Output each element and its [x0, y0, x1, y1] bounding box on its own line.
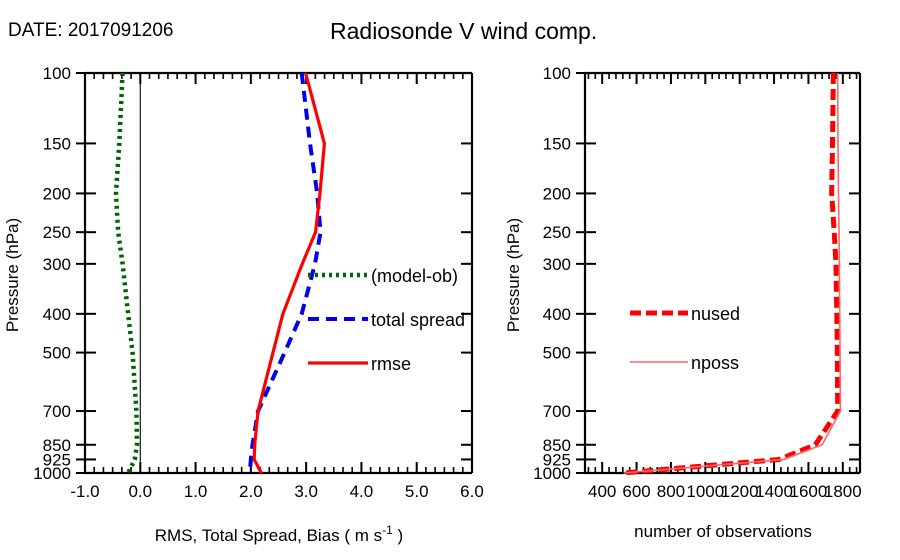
y-tick-label: 400 [543, 305, 571, 324]
x-tick-label: 0.0 [128, 482, 152, 501]
y-tick-label: 1000 [33, 464, 71, 483]
legend-label-nposs: nposs [691, 353, 739, 373]
y-tick-label: 500 [543, 344, 571, 363]
x-tick-label: 4.0 [350, 482, 374, 501]
chart-page: DATE: 2017091206 Radiosonde V wind comp.… [0, 0, 900, 560]
left-data-series [116, 73, 324, 473]
y-tick-label: 400 [43, 305, 71, 324]
right-legend: nusednposs [630, 304, 740, 373]
left-panel: -1.00.01.02.03.04.05.06.0 10015020025030… [3, 64, 484, 545]
left-x-axis-title-main: RMS, Total Spread, Bias ( m s [155, 526, 382, 545]
x-tick-label: 2.0 [239, 482, 263, 501]
y-tick-label: 150 [43, 134, 71, 153]
plot-canvas: -1.00.01.02.03.04.05.06.0 10015020025030… [0, 0, 900, 560]
x-tick-label: 6.0 [460, 482, 484, 501]
legend-label-total-spread: total spread [371, 310, 465, 330]
left-y-axis-title: Pressure (hPa) [3, 218, 22, 332]
x-tick-label: 400 [588, 482, 616, 501]
y-tick-label: 500 [43, 344, 71, 363]
x-tick-label: 1800 [824, 482, 862, 501]
left-x-axis-title: RMS, Total Spread, Bias ( m s-1 ) [155, 523, 403, 545]
y-tick-label: 100 [543, 64, 571, 83]
y-tick-label: 300 [43, 255, 71, 274]
right-x-tick-labels: 40060080010001200140016001800 [588, 482, 862, 501]
left-x-axis-title-tail: ) [393, 526, 403, 545]
left-legend: (model-ob)total spreadrmse [308, 266, 465, 374]
left-y-tick-labels: 1001502002503004005007008509251000 [33, 64, 71, 483]
y-tick-label: 700 [43, 402, 71, 421]
right-axis-ticks [576, 73, 860, 473]
y-tick-label: 250 [543, 223, 571, 242]
series-nused [623, 73, 838, 473]
right-y-tick-labels: 1001502002503004005007008509251000 [533, 64, 571, 483]
x-tick-label: -1.0 [70, 482, 99, 501]
x-tick-label: 800 [657, 482, 685, 501]
series-nposs [624, 73, 841, 473]
right-axes-frame [585, 73, 860, 473]
left-x-tick-labels: -1.00.01.02.03.04.05.06.0 [70, 482, 483, 501]
legend-label--model-ob-: (model-ob) [371, 266, 458, 286]
y-tick-label: 250 [43, 223, 71, 242]
y-tick-label: 100 [43, 64, 71, 83]
y-tick-label: 1000 [533, 464, 571, 483]
series--model-ob- [116, 73, 137, 473]
x-tick-label: 600 [622, 482, 650, 501]
x-tick-label: 5.0 [405, 482, 429, 501]
left-x-axis-title-exponent: -1 [382, 523, 393, 537]
x-tick-label: 1400 [755, 482, 793, 501]
x-tick-label: 1.0 [184, 482, 208, 501]
right-data-series [623, 73, 841, 473]
x-tick-label: 1200 [721, 482, 759, 501]
right-panel: 40060080010001200140016001800 1001502002… [504, 64, 862, 541]
right-x-axis-title: number of observations [634, 522, 812, 541]
y-tick-label: 700 [543, 402, 571, 421]
y-tick-label: 150 [543, 134, 571, 153]
x-tick-label: 1000 [686, 482, 724, 501]
y-tick-label: 200 [43, 184, 71, 203]
legend-label-rmse: rmse [371, 354, 411, 374]
x-tick-label: 3.0 [294, 482, 318, 501]
y-tick-label: 300 [543, 255, 571, 274]
y-tick-label: 200 [543, 184, 571, 203]
right-y-axis-title: Pressure (hPa) [504, 218, 523, 332]
legend-label-nused: nused [691, 304, 740, 324]
x-tick-label: 1600 [790, 482, 828, 501]
